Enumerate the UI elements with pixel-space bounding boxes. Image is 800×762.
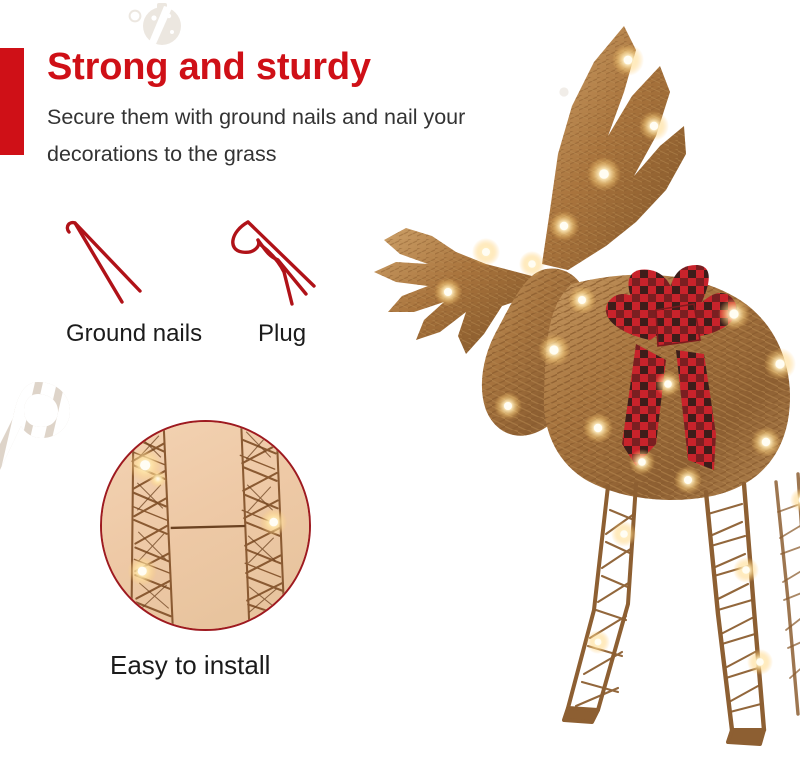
accessory-label: Ground nails [66, 320, 202, 349]
christmas-bauble-icon [120, 2, 182, 46]
red-accent-bar [0, 48, 24, 155]
page-title: Strong and sturdy [47, 47, 371, 87]
moose-legs [564, 474, 800, 744]
accessory-item-ground-nails: Ground nails [62, 218, 162, 318]
accessory-icon-row: Ground nails Plug [0, 218, 360, 358]
accessory-item-plug: Plug [228, 218, 328, 318]
accessory-label: Plug [258, 320, 306, 349]
ground-nail-stake-icon [62, 218, 162, 318]
lighted-rattan-moose-photo [336, 14, 800, 762]
power-plug-cable-icon [228, 218, 328, 318]
circular-photo-inset [100, 420, 311, 631]
inset-leg-closeup-photo [102, 422, 309, 629]
infographic-canvas: Strong and sturdy Secure them with groun… [0, 0, 800, 762]
candy-cane-icon [0, 378, 84, 482]
inset-caption: Easy to install [110, 650, 270, 681]
